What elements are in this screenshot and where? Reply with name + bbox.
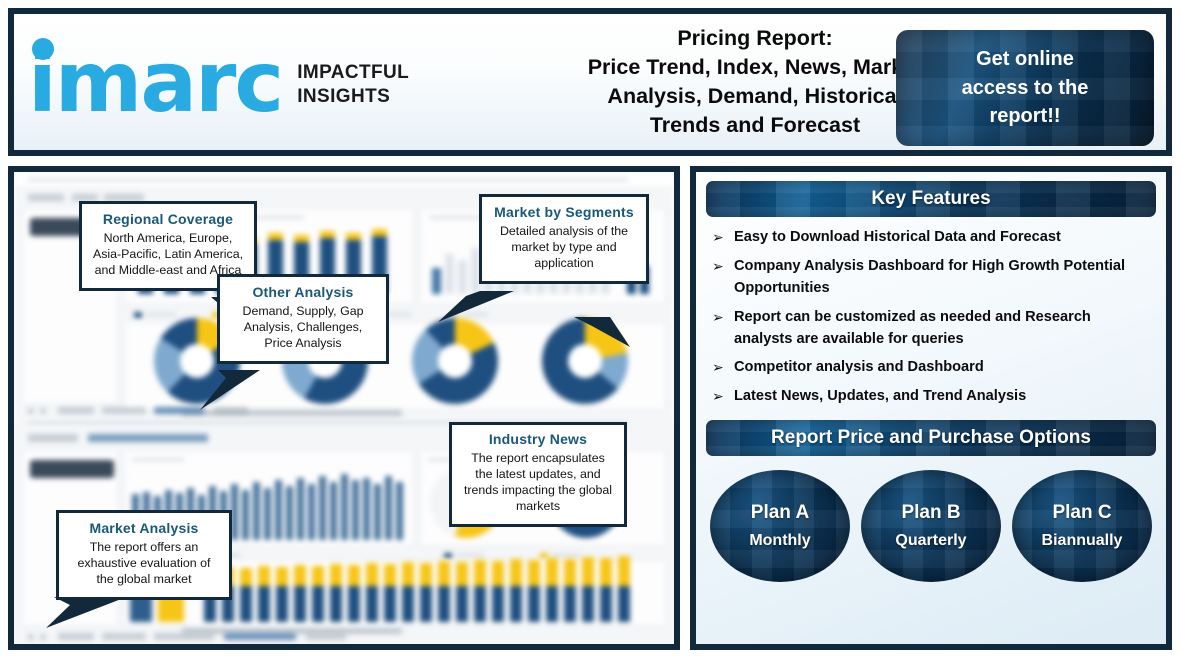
plan-a-name: Plan A <box>751 502 809 524</box>
logo-tagline-line1: IMPACTFUL <box>297 61 409 85</box>
poster-root: imarc IMPACTFUL INSIGHTS Pricing Report:… <box>0 0 1180 658</box>
plan-option-a[interactable]: Plan A Monthly <box>710 470 850 582</box>
cta-line-3: report!! <box>962 102 1089 130</box>
key-feature-text: Company Analysis Dashboard for High Grow… <box>734 256 1152 300</box>
callout-industry-news: Industry News The report encapsulates th… <box>449 422 627 527</box>
plan-option-c[interactable]: Plan C Biannually <box>1012 470 1152 582</box>
plan-options: Plan A Monthly Plan B Quarterly Plan C B… <box>706 470 1156 582</box>
logo-tagline-line2: INSIGHTS <box>297 85 409 109</box>
header-banner: imarc IMPACTFUL INSIGHTS Pricing Report:… <box>8 8 1172 156</box>
callout-regional-coverage-title: Regional Coverage <box>91 211 245 227</box>
logo-wordmark: imarc <box>28 46 282 118</box>
callout-market-by-segments: Market by Segments Detailed analysis of … <box>479 194 649 284</box>
callout-market-by-segments-title: Market by Segments <box>491 204 637 220</box>
key-feature-text: Latest News, Updates, and Trend Analysis <box>734 386 1026 408</box>
callout-other-analysis: Other Analysis Demand, Supply, Gap Analy… <box>217 274 389 364</box>
plan-b-frequency: Quarterly <box>895 532 966 550</box>
plan-c-name: Plan C <box>1052 502 1111 524</box>
callout-other-analysis-title: Other Analysis <box>229 284 377 300</box>
key-feature-text: Report can be customized as needed and R… <box>734 307 1152 351</box>
key-feature-item: ➢ Company Analysis Dashboard for High Gr… <box>712 256 1152 300</box>
callout-industry-news-body: The report encapsulates the latest updat… <box>461 451 615 515</box>
key-feature-item: ➢ Latest News, Updates, and Trend Analys… <box>712 386 1152 408</box>
bullet-arrow-icon: ➢ <box>712 256 734 277</box>
cta-line-1: Get online <box>962 45 1089 73</box>
bullet-arrow-icon: ➢ <box>712 227 734 248</box>
callout-market-analysis-body: The report offers an exhaustive evaluati… <box>68 540 220 588</box>
tail-industry-news <box>574 317 630 347</box>
callout-regional-coverage-body: North America, Europe, Asia-Pacific, Lat… <box>91 231 245 279</box>
tail-other-analysis <box>200 370 260 410</box>
callout-market-by-segments-body: Detailed analysis of the market by type … <box>491 224 637 272</box>
imarc-logo: imarc IMPACTFUL INSIGHTS <box>14 14 344 150</box>
key-features-list: ➢ Easy to Download Historical Data and F… <box>712 227 1152 408</box>
cta-line-2: access to the <box>962 74 1089 102</box>
info-panel: Key Features ➢ Easy to Download Historic… <box>690 166 1172 650</box>
key-feature-text: Competitor analysis and Dashboard <box>734 357 984 379</box>
key-features-heading: Key Features <box>706 181 1156 217</box>
plan-b-name: Plan B <box>901 502 960 524</box>
callout-market-analysis-title: Market Analysis <box>68 520 220 536</box>
get-online-access-button[interactable]: Get online access to the report!! <box>896 30 1154 146</box>
bullet-arrow-icon: ➢ <box>712 357 734 378</box>
bullet-arrow-icon: ➢ <box>712 386 734 407</box>
dashboard-preview-panel: Regional Coverage North America, Europe,… <box>8 166 680 650</box>
plan-option-b[interactable]: Plan B Quarterly <box>861 470 1001 582</box>
dashboard-image: Regional Coverage North America, Europe,… <box>14 172 674 644</box>
plan-c-frequency: Biannually <box>1042 532 1123 550</box>
key-feature-item: ➢ Easy to Download Historical Data and F… <box>712 227 1152 249</box>
pricing-heading: Report Price and Purchase Options <box>706 420 1156 456</box>
logo-tagline: IMPACTFUL INSIGHTS <box>297 61 409 110</box>
key-feature-item: ➢ Report can be customized as needed and… <box>712 307 1152 351</box>
key-feature-text: Easy to Download Historical Data and For… <box>734 227 1061 249</box>
tail-market-by-segments <box>438 291 514 322</box>
bullet-arrow-icon: ➢ <box>712 307 734 328</box>
key-feature-item: ➢ Competitor analysis and Dashboard <box>712 357 1152 379</box>
plan-a-frequency: Monthly <box>749 532 810 550</box>
callout-industry-news-title: Industry News <box>461 431 615 447</box>
callout-other-analysis-body: Demand, Supply, Gap Analysis, Challenges… <box>229 304 377 352</box>
callout-market-analysis: Market Analysis The report offers an exh… <box>56 510 232 600</box>
